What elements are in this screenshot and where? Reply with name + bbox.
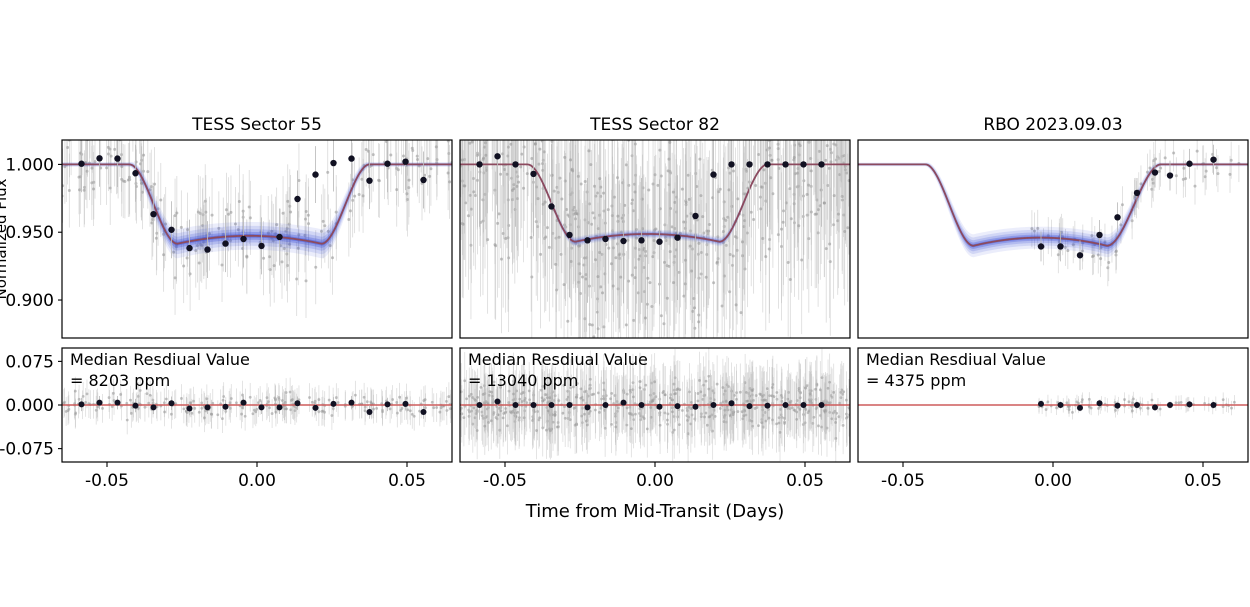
x-ticks-1: -0.050.000.05 <box>85 462 426 491</box>
residual-point <box>621 400 627 406</box>
residual-y-ticks: 0.0750.000-0.075 <box>0 352 62 459</box>
data-point <box>96 155 102 161</box>
residual-point <box>97 400 103 406</box>
data-point <box>420 177 426 183</box>
residual-point <box>295 400 301 406</box>
residual-point <box>313 405 319 411</box>
residual-point <box>205 404 211 410</box>
residual-point <box>169 400 175 406</box>
residual-point <box>765 403 771 409</box>
binned-data-points-1 <box>78 130 426 278</box>
unbinned-data-1 <box>61 78 454 318</box>
data-point <box>150 211 156 217</box>
panel-3: RBO 2023.09.03Median Resdiual Value= 437… <box>858 115 1248 491</box>
data-point <box>1038 243 1044 249</box>
binned-data-points-3 <box>1038 145 1217 270</box>
residual-note-line2-2: = 13040 ppm <box>468 371 578 390</box>
residual-plot-area-3 <box>858 392 1248 420</box>
x-tick-label: 0.05 <box>1184 471 1222 491</box>
residual-point <box>639 402 645 408</box>
residual-point <box>801 402 807 408</box>
flux-y-tick-label: 0.950 <box>5 223 54 243</box>
residual-point <box>585 404 591 410</box>
residual-point <box>133 403 139 409</box>
x-tick-label: -0.05 <box>85 471 129 491</box>
data-point <box>330 160 336 166</box>
transit-lightcurve-figure: Normalized FluxTESS Sector 551.0000.9500… <box>0 0 1250 607</box>
data-point <box>494 153 500 159</box>
residual-point <box>531 402 537 408</box>
residual-point <box>747 403 753 409</box>
x-tick-label: 0.00 <box>636 471 674 491</box>
residual-point <box>277 404 283 410</box>
data-point <box>132 170 138 176</box>
data-point <box>800 161 806 167</box>
residual-point <box>241 400 247 406</box>
residual-point <box>657 404 663 410</box>
residual-point <box>513 402 519 408</box>
x-ticks-2: -0.050.000.05 <box>483 462 824 491</box>
residual-point <box>693 404 699 410</box>
data-point <box>1152 169 1158 175</box>
residual-point <box>567 402 573 408</box>
residual-note-line1-1: Median Resdiual Value <box>70 350 250 369</box>
residual-note-line1-3: Median Resdiual Value <box>866 350 1046 369</box>
data-point <box>1057 243 1063 249</box>
data-point <box>1186 161 1192 167</box>
residual-axes-1: Median Resdiual Value= 8203 ppm0.0750.00… <box>0 348 452 491</box>
panel-title-2: TESS Sector 82 <box>589 115 720 135</box>
residual-point <box>1058 402 1064 408</box>
residual-note-line1-2: Median Resdiual Value <box>468 350 648 369</box>
residual-point <box>1115 403 1121 409</box>
residual-note-line2-3: = 4375 ppm <box>866 371 966 390</box>
panel-title-3: RBO 2023.09.03 <box>983 115 1122 135</box>
flux-y-tick-label: 0.900 <box>5 291 54 311</box>
residual-point <box>675 403 681 409</box>
residual-point <box>1077 405 1083 411</box>
data-point <box>348 155 354 161</box>
residual-axes-3: Median Resdiual Value= 4375 ppm-0.050.00… <box>858 348 1248 491</box>
x-axis-label: Time from Mid-Transit (Days) <box>525 501 785 522</box>
residual-point <box>1211 402 1217 408</box>
residual-point <box>1187 401 1193 407</box>
data-point <box>366 177 372 183</box>
residual-point <box>187 405 193 411</box>
data-point <box>548 203 554 209</box>
data-point <box>584 237 590 243</box>
residual-point <box>603 402 609 408</box>
residual-point <box>331 401 337 407</box>
data-point <box>114 155 120 161</box>
data-point <box>312 171 318 177</box>
residual-point <box>115 400 121 406</box>
residual-point <box>729 400 735 406</box>
x-tick-label: 0.05 <box>786 471 824 491</box>
residual-point <box>1038 401 1044 407</box>
data-point <box>1167 172 1173 178</box>
residual-point <box>711 402 717 408</box>
data-point <box>186 245 192 251</box>
data-point <box>258 243 264 249</box>
x-tick-label: 0.00 <box>238 471 276 491</box>
residual-point <box>1167 402 1173 408</box>
panel-2: TESS Sector 82Median Resdiual Value= 130… <box>459 0 852 491</box>
data-point <box>620 238 626 244</box>
data-point <box>638 237 644 243</box>
data-point <box>692 213 698 219</box>
residual-point <box>421 409 427 415</box>
data-point <box>1096 232 1102 238</box>
data-point <box>1134 190 1140 196</box>
data-point <box>566 232 572 238</box>
residual-point <box>259 404 265 410</box>
data-point <box>168 227 174 233</box>
data-point <box>710 171 716 177</box>
residual-point <box>79 401 85 407</box>
residual-axes-2: Median Resdiual Value= 13040 ppm-0.050.0… <box>459 348 852 491</box>
data-point <box>818 161 824 167</box>
residual-point <box>349 400 355 406</box>
residual-point <box>223 404 229 410</box>
data-point <box>512 161 518 167</box>
flux-axes-3 <box>858 133 1248 338</box>
data-point <box>476 161 482 167</box>
data-point <box>1210 156 1216 162</box>
flux-plot-area-1 <box>61 78 454 318</box>
data-point <box>276 234 282 240</box>
residual-y-tick-label: -0.075 <box>0 440 54 460</box>
data-point <box>782 161 788 167</box>
data-point <box>1077 252 1083 258</box>
residual-point <box>477 402 483 408</box>
residual-y-tick-label: 0.000 <box>5 396 54 416</box>
data-point <box>294 196 300 202</box>
x-ticks-3: -0.050.000.05 <box>881 462 1222 491</box>
residual-point <box>151 404 157 410</box>
data-point <box>222 240 228 246</box>
residual-point <box>385 401 391 407</box>
data-point <box>728 161 734 167</box>
x-tick-label: -0.05 <box>483 471 527 491</box>
x-tick-label: 0.05 <box>388 471 426 491</box>
residual-point <box>403 401 409 407</box>
model-confidence-band-1 <box>62 162 452 258</box>
data-point <box>764 161 770 167</box>
residual-point <box>549 402 555 408</box>
data-point <box>384 161 390 167</box>
flux-y-tick-label: 1.000 <box>5 155 54 175</box>
flux-y-ticks: 1.0000.9500.900 <box>5 155 62 311</box>
data-point <box>656 239 662 245</box>
residual-point <box>819 402 825 408</box>
residual-point <box>367 409 373 415</box>
data-point <box>602 236 608 242</box>
residual-point <box>783 402 789 408</box>
residual-y-tick-label: 0.075 <box>5 352 54 372</box>
panel-1: TESS Sector 551.0000.9500.900Median Resd… <box>0 78 453 491</box>
residual-point <box>495 399 501 405</box>
data-point <box>402 158 408 164</box>
data-point <box>530 171 536 177</box>
x-tick-label: 0.00 <box>1034 471 1072 491</box>
data-point <box>240 236 246 242</box>
data-point <box>204 246 210 252</box>
residual-point <box>1134 402 1140 408</box>
data-point <box>1114 214 1120 220</box>
flux-plot-area-3 <box>858 133 1248 287</box>
panel-title-1: TESS Sector 55 <box>191 115 322 135</box>
data-point <box>78 161 84 167</box>
x-tick-label: -0.05 <box>881 471 925 491</box>
data-point <box>746 161 752 167</box>
residual-point <box>1152 404 1158 410</box>
residual-point <box>1097 400 1103 406</box>
residual-note-line2-1: = 8203 ppm <box>70 371 170 390</box>
data-point <box>674 234 680 240</box>
figure-canvas: Normalized FluxTESS Sector 551.0000.9500… <box>0 0 1250 607</box>
